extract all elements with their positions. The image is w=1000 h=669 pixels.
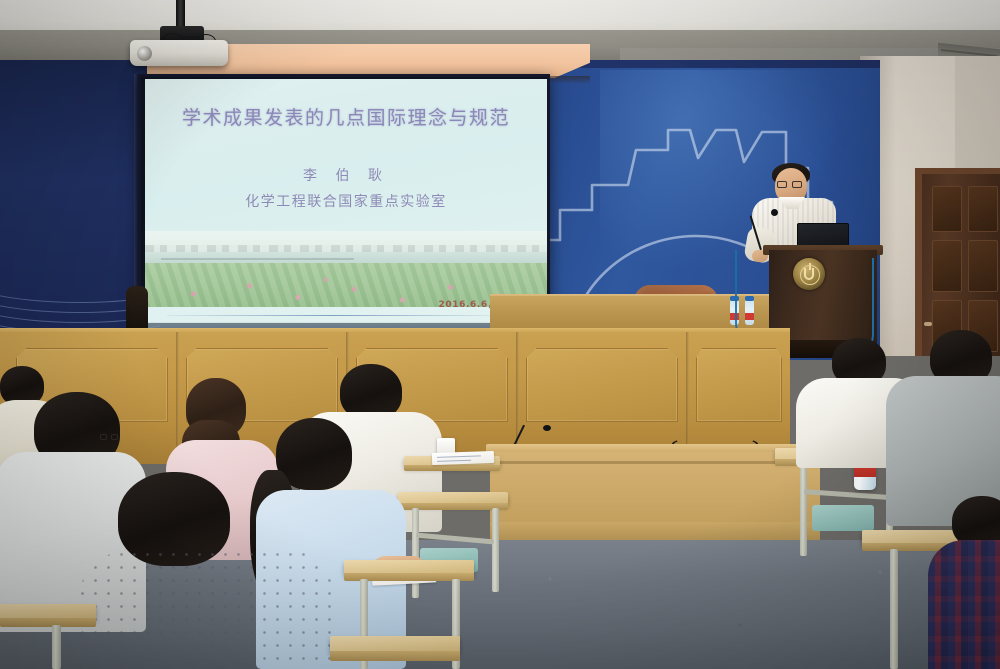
photo-haze-overlay (145, 231, 547, 307)
screen-foreground-object (126, 286, 148, 330)
podium-microphone-head (771, 209, 778, 216)
university-emblem-icon (793, 258, 825, 290)
glasses-icon (777, 181, 804, 188)
projector-mount-pole (176, 0, 185, 28)
laptop-screen[interactable] (797, 223, 849, 247)
stage-desk-microphone-head (543, 425, 551, 431)
glasses-icon (100, 434, 118, 440)
stage-wall-panel (526, 348, 678, 422)
door-panel (932, 186, 962, 232)
lecture-hall-photo: 学术成果发表的几点国际理念与规范 李 伯 耿 化学工程联合国家重点实验室 201… (0, 0, 1000, 669)
projection-screen: 学术成果发表的几点国际理念与规范 李 伯 耿 化学工程联合国家重点实验室 201… (138, 74, 550, 324)
stage-wall-panel (696, 348, 782, 422)
slide-title: 学术成果发表的几点国际理念与规范 (145, 103, 547, 130)
handout (432, 451, 494, 465)
slide-author: 李 伯 耿 (145, 165, 547, 185)
projector-lens-icon (137, 46, 152, 61)
emblem-glyph (804, 268, 814, 280)
door-panel (968, 186, 998, 232)
slide-photo (145, 231, 547, 307)
slide-affiliation: 化学工程联合国家重点实验室 (145, 191, 547, 211)
door-panel (932, 240, 962, 292)
exit-door[interactable] (915, 168, 1000, 356)
slide: 学术成果发表的几点国际理念与规范 李 伯 耿 化学工程联合国家重点实验室 201… (145, 79, 547, 323)
door-handle[interactable] (924, 322, 932, 326)
door-panel (968, 240, 998, 292)
slide-divider-rule (167, 315, 497, 316)
ceiling (0, 0, 1000, 34)
